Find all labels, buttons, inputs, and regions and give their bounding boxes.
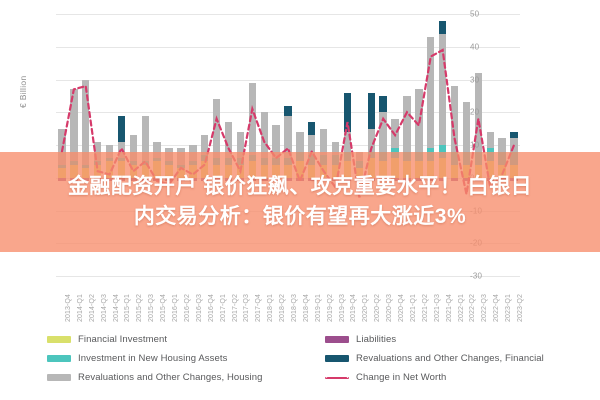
- y-axis-tick-label: 40: [470, 42, 479, 51]
- x-axis-tick-label: 2019-Q1: [315, 294, 322, 322]
- x-axis-tick-label: 2022-Q3: [481, 294, 488, 322]
- x-axis-tick-label: 2020-Q4: [398, 294, 405, 322]
- legend-item[interactable]: Liabilities: [325, 330, 544, 349]
- y-axis-tick-label: 50: [470, 10, 479, 19]
- x-axis-tick-label: 2016-Q3: [196, 294, 203, 322]
- legend-swatch-icon: [47, 374, 71, 381]
- legend-label: Investment in New Housing Assets: [78, 353, 227, 364]
- legend-swatch-icon: [47, 355, 71, 362]
- legend-swatch-icon: [47, 336, 71, 343]
- legend-swatch-icon: [325, 336, 349, 343]
- legend-item[interactable]: Revaluations and Other Changes, Housing: [47, 368, 263, 387]
- x-axis-tick-label: 2017-Q1: [220, 294, 227, 322]
- x-axis-tick-label: 2019-Q3: [339, 294, 346, 322]
- x-axis-tick-label: 2018-Q1: [267, 294, 274, 322]
- x-axis-tick-label: 2018-Q3: [291, 294, 298, 322]
- x-axis-tick-label: 2015-Q2: [136, 294, 143, 322]
- x-axis-tick-label: 2016-Q2: [184, 294, 191, 322]
- x-axis-tick-label: 2023-Q1: [505, 294, 512, 322]
- x-axis-labels: 2013-Q42014-Q12014-Q22014-Q32014-Q42015-…: [56, 278, 520, 324]
- chart-area: € Billion 50403020100-10-20-30 2013-Q420…: [0, 0, 600, 325]
- x-axis-tick-label: 2022-Q2: [469, 294, 476, 322]
- legend-swatch-icon: [325, 377, 349, 379]
- x-axis-tick-label: 2021-Q3: [434, 294, 441, 322]
- x-axis-tick-label: 2013-Q4: [65, 294, 72, 322]
- x-axis-tick-label: 2016-Q1: [172, 294, 179, 322]
- x-axis-tick-label: 2017-Q4: [255, 294, 262, 322]
- legend-item[interactable]: Investment in New Housing Assets: [47, 349, 263, 368]
- legend-label: Change in Net Worth: [356, 372, 446, 383]
- x-axis-tick-label: 2014-Q1: [77, 294, 84, 322]
- x-axis-tick-label: 2023-Q2: [517, 294, 524, 322]
- legend-swatch-icon: [325, 355, 349, 362]
- gridline: [56, 276, 520, 277]
- plot-region: [56, 14, 520, 276]
- y-axis-tick-label: 20: [470, 108, 479, 117]
- legend-label: Revaluations and Other Changes, Housing: [78, 372, 263, 383]
- x-axis-tick-label: 2015-Q1: [124, 294, 131, 322]
- x-axis-tick-label: 2019-Q4: [350, 294, 357, 322]
- chart-screenshot: € Billion 50403020100-10-20-30 2013-Q420…: [0, 0, 600, 400]
- y-axis-tick-label: 10: [470, 141, 479, 150]
- y-axis-tick-label: -20: [470, 239, 482, 248]
- y-axis-label: € Billion: [18, 76, 28, 108]
- y-axis-tick-label: 0: [470, 173, 475, 182]
- legend-item[interactable]: Change in Net Worth: [325, 368, 544, 387]
- x-axis-tick-label: 2022-Q4: [493, 294, 500, 322]
- y-axis-tick-label: -10: [470, 206, 482, 215]
- legend-item[interactable]: Revaluations and Other Changes, Financia…: [325, 349, 544, 368]
- x-axis-tick-label: 2021-Q4: [446, 294, 453, 322]
- x-axis-tick-label: 2017-Q2: [232, 294, 239, 322]
- x-axis-tick-label: 2020-Q1: [362, 294, 369, 322]
- legend-label: Financial Investment: [78, 334, 167, 345]
- x-axis-tick-label: 2017-Q3: [243, 294, 250, 322]
- x-axis-tick-label: 2021-Q1: [410, 294, 417, 322]
- x-axis-tick-label: 2015-Q3: [148, 294, 155, 322]
- legend-item[interactable]: Financial Investment: [47, 330, 263, 349]
- chart-legend: Financial InvestmentInvestment in New Ho…: [0, 330, 600, 400]
- net-worth-polyline: [62, 50, 514, 197]
- legend-label: Revaluations and Other Changes, Financia…: [356, 353, 544, 364]
- x-axis-tick-label: 2014-Q4: [113, 294, 120, 322]
- x-axis-tick-label: 2019-Q2: [327, 294, 334, 322]
- x-axis-tick-label: 2020-Q2: [374, 294, 381, 322]
- x-axis-tick-label: 2020-Q3: [386, 294, 393, 322]
- legend-column-right: LiabilitiesRevaluations and Other Change…: [325, 330, 544, 387]
- x-axis-tick-label: 2015-Q4: [160, 294, 167, 322]
- x-axis-tick-label: 2022-Q1: [458, 294, 465, 322]
- x-axis-tick-label: 2014-Q3: [101, 294, 108, 322]
- x-axis-tick-label: 2021-Q2: [422, 294, 429, 322]
- y-axis-tick-label: 30: [470, 75, 479, 84]
- x-axis-tick-label: 2016-Q4: [208, 294, 215, 322]
- x-axis-tick-label: 2018-Q4: [303, 294, 310, 322]
- x-axis-tick-label: 2018-Q2: [279, 294, 286, 322]
- net-worth-line: [56, 14, 520, 276]
- x-axis-tick-label: 2014-Q2: [89, 294, 96, 322]
- legend-label: Liabilities: [356, 334, 396, 345]
- legend-column-left: Financial InvestmentInvestment in New Ho…: [47, 330, 263, 387]
